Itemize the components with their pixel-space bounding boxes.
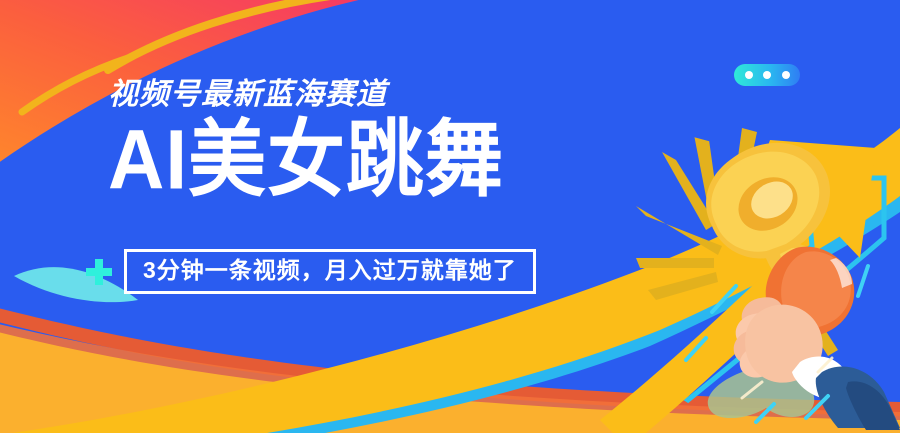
subtitle-box: 3分钟一条视频，月入过万就靠她了 <box>124 249 536 294</box>
plus-icon <box>86 259 112 285</box>
kicker-text: 视频号最新蓝海赛道 <box>108 78 708 111</box>
page-title: AI美女跳舞 <box>108 117 708 201</box>
headline-block: 视频号最新蓝海赛道 AI美女跳舞 <box>108 78 708 195</box>
dot-1 <box>745 71 753 79</box>
subtitle-row: 3分钟一条视频，月入过万就靠她了 <box>86 249 536 294</box>
dots-badge <box>734 64 800 86</box>
promo-poster: 视频号最新蓝海赛道 AI美女跳舞 3分钟一条视频，月入过万就靠她了 <box>0 0 900 433</box>
subtitle-text: 3分钟一条视频，月入过万就靠她了 <box>143 259 517 282</box>
dot-2 <box>763 71 771 79</box>
dot-3 <box>782 71 790 79</box>
